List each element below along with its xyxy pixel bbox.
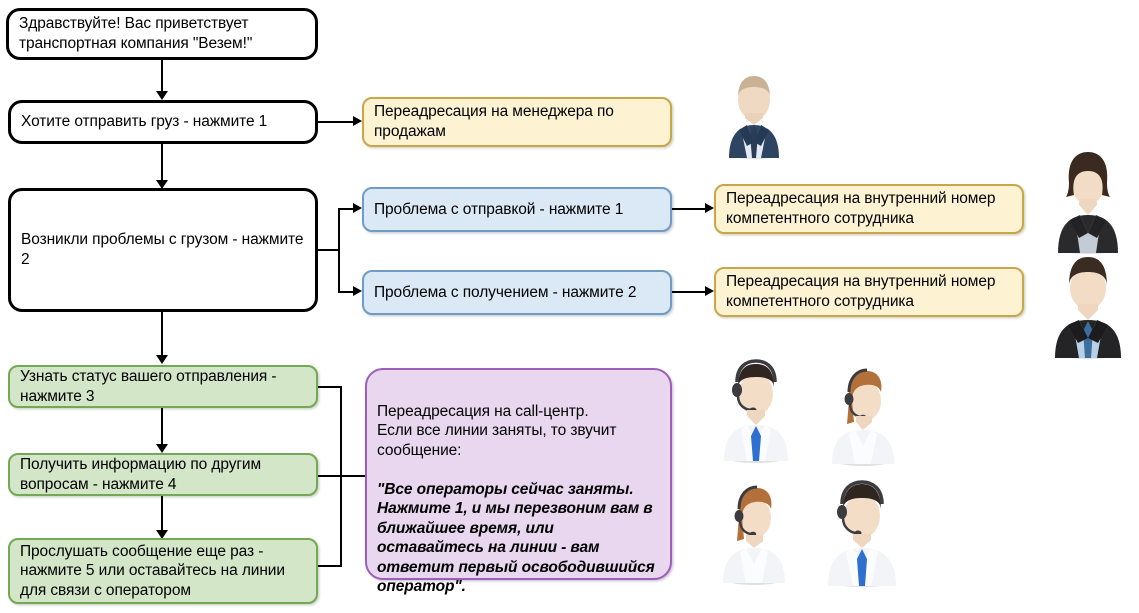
connector-other-to-repeat <box>161 496 163 532</box>
call-center-quote-text: "Все операторы сейчас заняты. Нажмите 1,… <box>377 480 660 597</box>
avatar-operator-1 <box>718 358 794 463</box>
node-forward-internal-1[interactable]: Переадресация на внутренний номер компет… <box>714 184 1024 234</box>
node-greeting[interactable]: Здравствуйте! Вас приветствует транспорт… <box>6 8 318 60</box>
connector-send-to-sales <box>318 121 354 123</box>
connector-send-to-problems <box>161 144 163 182</box>
node-forward-sales-manager[interactable]: Переадресация на менеджера по продажам <box>362 97 672 147</box>
node-forward-internal-1-label: Переадресация на внутренний номер компет… <box>726 189 1012 228</box>
node-check-status-label: Узнать статус вашего отправления - нажми… <box>20 367 306 406</box>
avatar-operator-4 <box>822 478 902 588</box>
connector-problems-split <box>338 208 340 292</box>
node-call-center-text: Переадресация на call-центр. Если все ли… <box>377 382 660 613</box>
connector-other-merge <box>318 475 342 477</box>
arrow-shipping-to-internal <box>705 203 714 213</box>
connector-receiving-to-internal <box>672 291 706 293</box>
node-check-status[interactable]: Узнать статус вашего отправления - нажми… <box>8 365 318 408</box>
arrow-problems-to-status <box>156 355 168 364</box>
node-other-questions[interactable]: Получить информацию по другим вопросам -… <box>8 453 318 496</box>
node-greeting-label: Здравствуйте! Вас приветствует транспорт… <box>19 14 305 53</box>
node-problem-shipping-label: Проблема с отправкой - нажмите 1 <box>374 200 623 220</box>
node-problem-receiving-label: Проблема с получением - нажмите 2 <box>374 283 636 303</box>
call-center-plain-text: Переадресация на call-центр. Если все ли… <box>377 402 660 461</box>
arrow-problems-to-shipping <box>353 203 362 213</box>
avatar-sales-manager <box>723 68 785 160</box>
node-forward-internal-2[interactable]: Переадресация на внутренний номер компет… <box>714 267 1024 317</box>
arrow-receiving-to-internal <box>705 286 714 296</box>
node-cargo-problems-label: Возникли проблемы с грузом - нажмите 2 <box>21 230 305 269</box>
node-problem-receiving[interactable]: Проблема с получением - нажмите 2 <box>362 270 672 315</box>
connector-problems-trunk <box>318 249 340 251</box>
avatar-operator-2 <box>827 366 899 466</box>
node-send-cargo[interactable]: Хотите отправить груз - нажмите 1 <box>8 100 318 144</box>
node-repeat-message[interactable]: Прослушать сообщение еще раз - нажмите 5… <box>8 538 318 604</box>
connector-status-merge <box>318 386 342 388</box>
node-send-cargo-label: Хотите отправить груз - нажмите 1 <box>21 112 267 132</box>
arrow-send-to-sales <box>353 116 362 126</box>
arrow-greeting-to-send <box>156 91 168 100</box>
node-call-center[interactable]: Переадресация на call-центр. Если все ли… <box>365 368 672 580</box>
arrow-status-to-other <box>156 444 168 453</box>
connector-status-to-other <box>161 408 163 446</box>
node-repeat-message-label: Прослушать сообщение еще раз - нажмите 5… <box>20 542 306 601</box>
connector-repeat-merge <box>318 565 342 567</box>
connector-problems-to-status <box>161 312 163 357</box>
node-forward-sales-manager-label: Переадресация на менеджера по продажам <box>374 102 660 141</box>
avatar-employee-male <box>1050 248 1126 360</box>
node-cargo-problems[interactable]: Возникли проблемы с грузом - нажмите 2 <box>8 188 318 312</box>
connector-greeting-to-send <box>161 60 163 93</box>
node-problem-shipping[interactable]: Проблема с отправкой - нажмите 1 <box>362 187 672 232</box>
avatar-operator-3 <box>718 480 790 585</box>
connector-shipping-to-internal <box>672 208 706 210</box>
node-forward-internal-2-label: Переадресация на внутренний номер компет… <box>726 272 1012 311</box>
flowchart-canvas: Здравствуйте! Вас приветствует транспорт… <box>0 0 1139 613</box>
node-other-questions-label: Получить информацию по другим вопросам -… <box>20 455 306 494</box>
arrow-problems-to-receiving <box>353 286 362 296</box>
avatar-employee-female <box>1052 145 1124 255</box>
